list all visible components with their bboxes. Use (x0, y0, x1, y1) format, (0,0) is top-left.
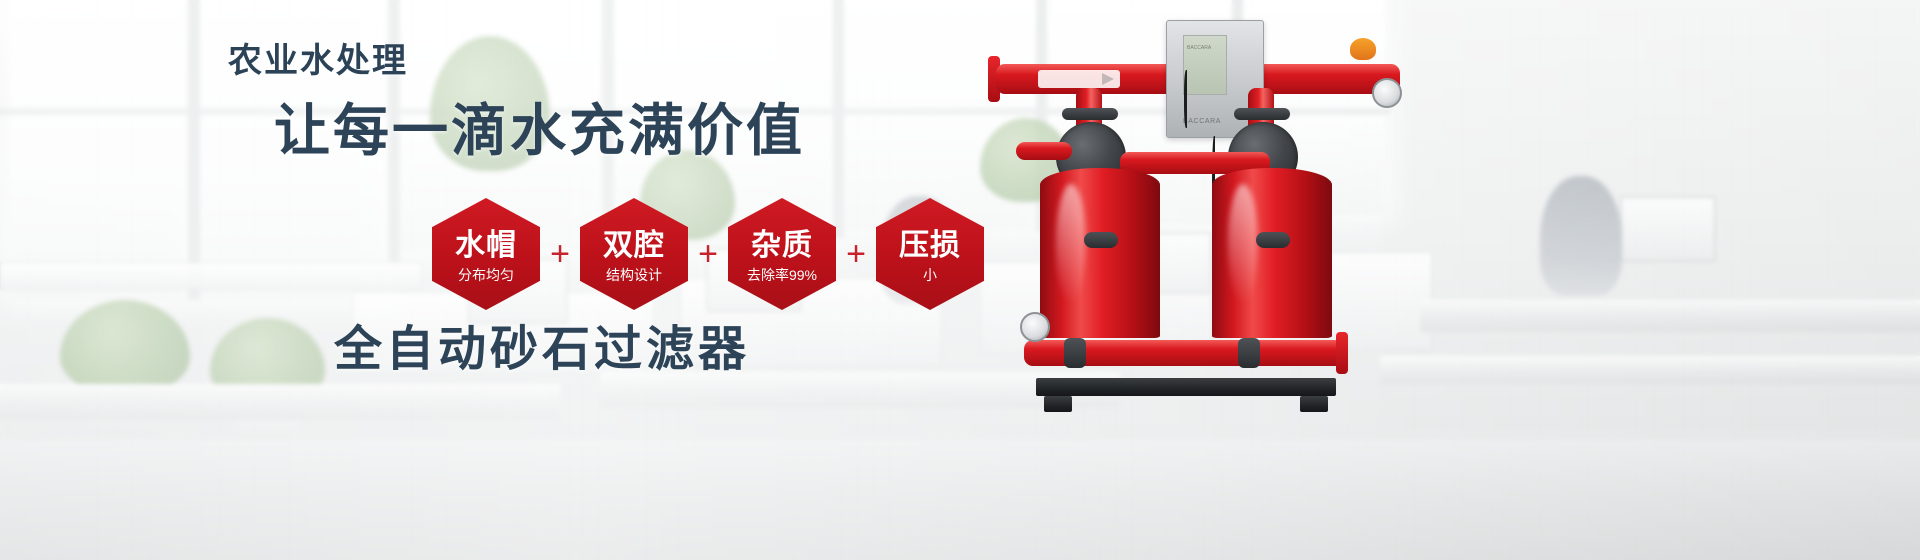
badge-subtitle: 小 (923, 268, 937, 282)
badge-title: 水帽 (455, 231, 517, 261)
badge-title: 杂质 (751, 231, 813, 261)
pipe-flange (1336, 332, 1348, 374)
tank-clamp (1256, 232, 1290, 248)
valve-flange (1062, 108, 1118, 120)
page-title: 让每一滴水充满价值 (274, 102, 805, 161)
feature-badge-dual-chamber[interactable]: 双腔 结构设计 (580, 198, 688, 310)
skid-foot (1044, 396, 1072, 412)
tank-highlight (1056, 184, 1086, 304)
plus-separator-icon: + (836, 237, 876, 271)
filter-tank-left (1040, 168, 1160, 338)
feature-badge-water-cap[interactable]: 水帽 分布均匀 (432, 198, 540, 310)
skid-base (1036, 378, 1336, 396)
badge-title: 压损 (899, 231, 961, 261)
skid-foot (1300, 396, 1328, 412)
plus-separator-icon: + (688, 237, 728, 271)
controller-brand-label: BACCARA (1183, 118, 1221, 125)
controller-screen (1183, 35, 1227, 95)
orange-valve-cap-icon (1350, 38, 1376, 60)
eyebrow-text: 农业水处理 (228, 44, 408, 78)
hero-banner: 农业水处理 让每一滴水充满价值 全自动砂石过滤器 水帽 分布均匀 + 双腔 结构… (0, 0, 1920, 560)
feature-badge-impurity[interactable]: 杂质 去除率99% (728, 198, 836, 310)
pressure-gauge-left (1372, 78, 1402, 108)
plus-separator-icon: + (540, 237, 580, 271)
controller-screen-brand: BACCARA (1187, 45, 1211, 51)
side-spur-pipe (1016, 142, 1072, 160)
badge-subtitle: 分布均匀 (458, 268, 514, 282)
feature-badge-row: 水帽 分布均匀 + 双腔 结构设计 + 杂质 去除率99% + 压损 小 (432, 198, 984, 310)
badge-title: 双腔 (603, 231, 665, 261)
badge-subtitle: 去除率99% (747, 268, 817, 282)
tank-highlight (1228, 184, 1258, 304)
feature-badge-pressure-loss[interactable]: 压损 小 (876, 198, 984, 310)
controller-cable (1184, 70, 1189, 128)
bottom-valve (1064, 338, 1086, 368)
flow-arrow-icon (1038, 70, 1120, 88)
bottom-valve (1238, 338, 1260, 368)
tank-clamp (1084, 232, 1118, 248)
filter-tank-right (1212, 168, 1332, 338)
product-name-text: 全自动砂石过滤器 (334, 325, 750, 375)
product-image-sand-filter: BACCARA BACCARA (980, 0, 1540, 440)
badge-subtitle: 结构设计 (606, 268, 662, 282)
pressure-gauge-bottom (1020, 312, 1050, 342)
valve-flange (1234, 108, 1290, 120)
